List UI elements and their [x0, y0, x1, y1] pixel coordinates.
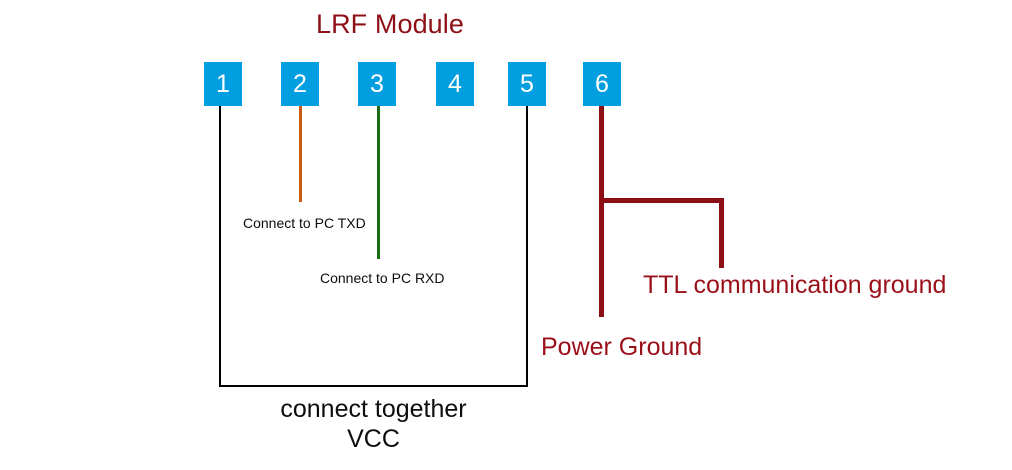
pin-box-6[interactable]: 6: [583, 62, 621, 106]
wire-pin6-branch-horizontal: [599, 198, 724, 203]
wire-pin1-vertical: [219, 105, 221, 387]
caption-vcc-text: VCC: [219, 424, 528, 454]
page-title: LRF Module: [0, 8, 780, 40]
wire-vcc-bus-horizontal: [219, 385, 528, 387]
caption-vcc-bus: connect together VCC: [219, 394, 528, 454]
pin-box-2[interactable]: 2: [281, 62, 319, 106]
pin-box-4[interactable]: 4: [436, 62, 474, 106]
label-connect-pc-rxd: Connect to PC RXD: [320, 269, 445, 287]
label-connect-pc-txd: Connect to PC TXD: [243, 214, 366, 232]
wire-pin2-vertical: [299, 105, 302, 202]
diagram-canvas: LRF Module 1 2 3 4 5 6 Connect to PC TXD…: [0, 0, 1012, 470]
wire-pin6-branch-vertical: [719, 198, 724, 268]
pin-box-3[interactable]: 3: [358, 62, 396, 106]
wire-pin3-vertical: [377, 105, 380, 259]
pin-box-5[interactable]: 5: [508, 62, 546, 106]
wire-pin6-vertical: [599, 105, 604, 317]
pin-box-1[interactable]: 1: [204, 62, 242, 106]
label-ttl-communication-ground: TTL communication ground: [643, 270, 946, 300]
label-power-ground: Power Ground: [541, 332, 702, 362]
caption-connect-together: connect together: [219, 394, 528, 424]
wire-pin5-vertical: [526, 105, 528, 387]
